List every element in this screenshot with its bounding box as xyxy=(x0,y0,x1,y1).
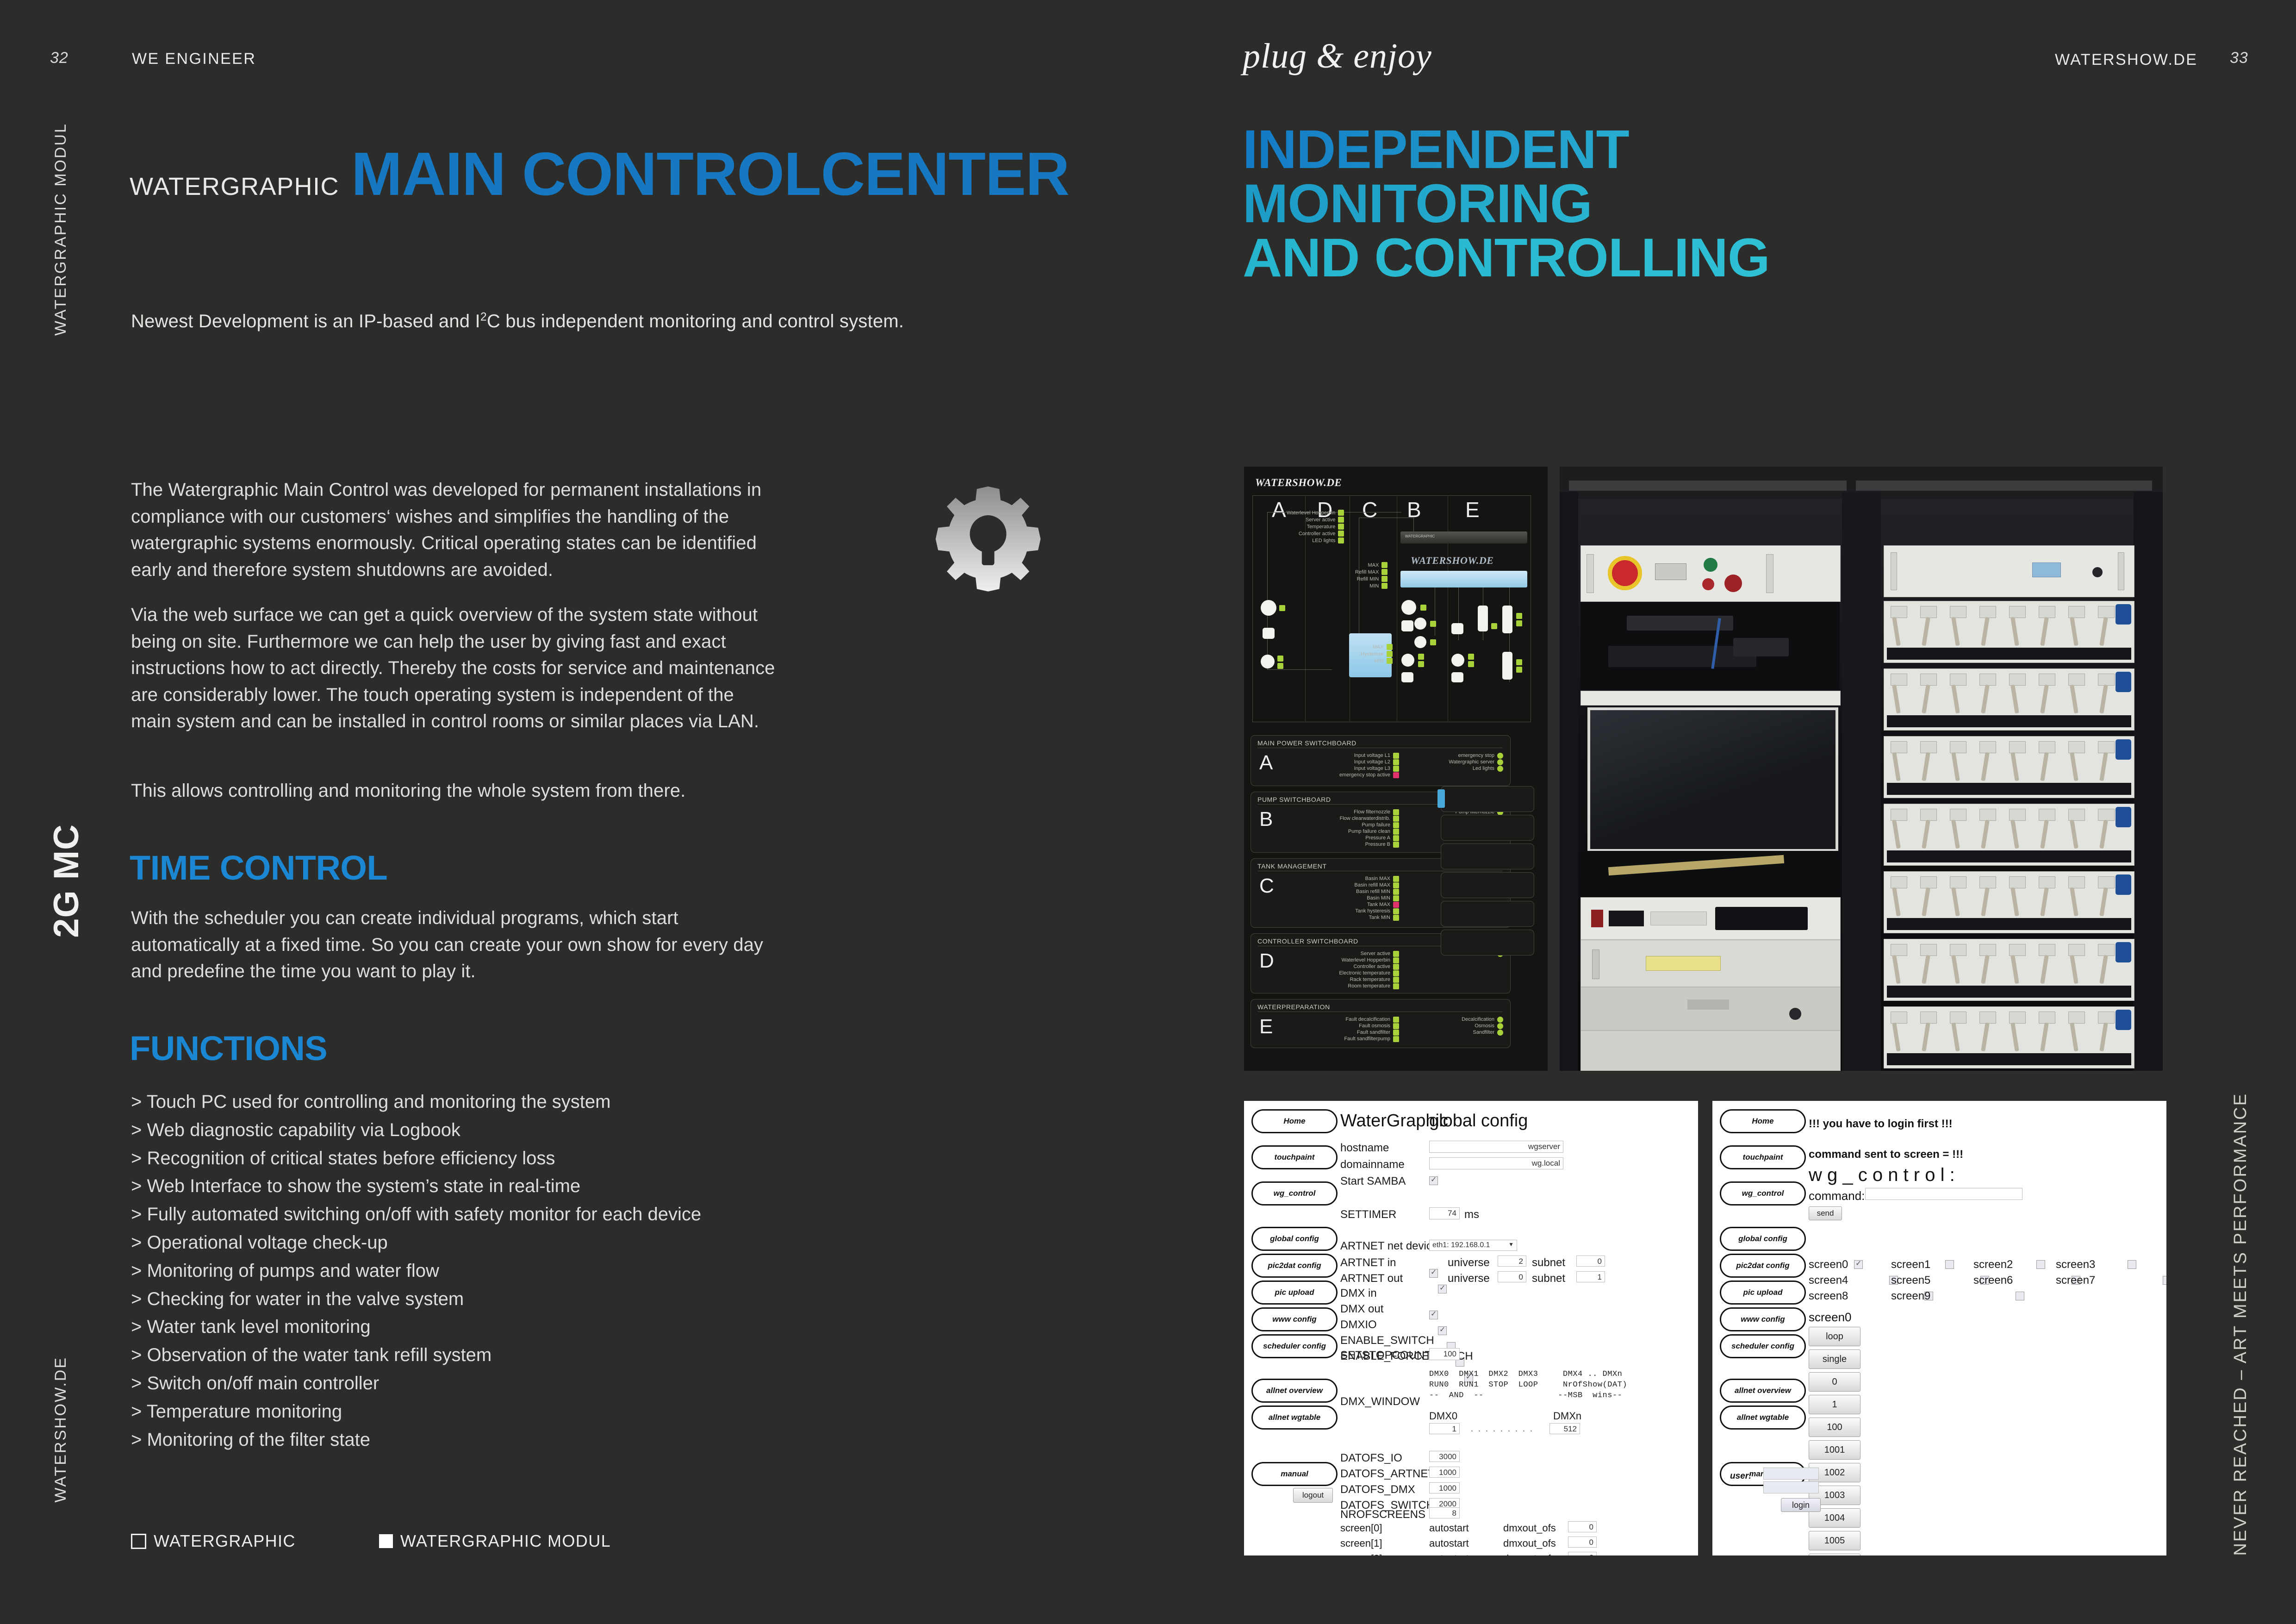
status-label: Pump failure clean xyxy=(1348,829,1390,834)
side-label-watershow-de: WATERSHOW.DE xyxy=(52,1356,70,1503)
status-led-icon xyxy=(1393,816,1399,822)
setstopcounter-input[interactable]: 100 xyxy=(1429,1348,1460,1360)
left-nav-pic2dat-config[interactable]: pic2dat config xyxy=(1251,1254,1338,1278)
outlet xyxy=(2009,674,2026,686)
page-number-right: 33 xyxy=(2230,49,2248,67)
screen-check-label-7: screen7 xyxy=(2056,1274,2095,1287)
status-label: Fault osmosis xyxy=(1359,1023,1390,1029)
status-led-icon xyxy=(1393,829,1399,835)
status-label: Electronic temperature xyxy=(1339,970,1390,976)
datofs-input[interactable]: 1000 xyxy=(1429,1482,1460,1493)
status-label: Room temperature xyxy=(1348,983,1390,989)
server-rack-photo xyxy=(1560,467,2163,1071)
cable xyxy=(2099,752,2108,781)
status-led-icon xyxy=(1393,983,1399,989)
blue-plug xyxy=(2116,604,2131,625)
status-label: Temperature xyxy=(1307,524,1336,530)
status-label: emergency stop xyxy=(1458,753,1494,758)
outlet xyxy=(1950,606,1966,618)
outlet xyxy=(2039,1012,2055,1024)
settimer-unit: ms xyxy=(1464,1208,1479,1221)
status-led-icon xyxy=(1393,895,1399,901)
cable xyxy=(1892,1023,1901,1052)
diagram-column-C: C xyxy=(1362,497,1377,522)
artnet-device-select[interactable]: eth1: 192.168.0.1 ▼ xyxy=(1429,1240,1517,1251)
page-number-left: 32 xyxy=(50,49,68,67)
card-letter: B xyxy=(1259,808,1273,831)
function-list-item: > Fully automated switching on/off with … xyxy=(131,1200,825,1229)
status-led-icon xyxy=(1393,1017,1399,1023)
autostart-label: autostart xyxy=(1429,1553,1469,1555)
hostname-input[interactable]: wgserver xyxy=(1429,1141,1563,1153)
card-status-row: Input voltage L1 xyxy=(1283,752,1399,759)
card-status-row: Decalcification xyxy=(1404,1016,1503,1023)
outlet xyxy=(1979,944,1996,956)
outlet xyxy=(2068,741,2085,753)
action-button-single[interactable]: single xyxy=(1809,1349,1860,1369)
screen-check-label-5: screen5 xyxy=(1891,1274,1930,1287)
dimmer-module xyxy=(1884,871,2134,933)
status-label: Basin refill MAX xyxy=(1354,882,1390,888)
card-letter: E xyxy=(1259,1015,1273,1038)
outlet xyxy=(1920,944,1937,956)
diagram-side-card xyxy=(1441,901,1534,927)
cable xyxy=(2040,820,2049,849)
functions-list: > Touch PC used for controlling and moni… xyxy=(131,1088,825,1454)
check-label-dmxio: DMXIO xyxy=(1340,1318,1377,1331)
status-label: Rack temperature xyxy=(1350,977,1390,982)
card-status-row: Input voltage L3 xyxy=(1283,765,1399,772)
status-c-row: MIN xyxy=(1355,582,1388,589)
card-status-row: Fault sandfilter xyxy=(1283,1029,1399,1036)
artnet-enable-checkbox[interactable] xyxy=(1429,1269,1438,1278)
outlet xyxy=(2098,1012,2115,1024)
status-label: Pressure B xyxy=(1365,842,1390,847)
body-paragraph-1: The Watergraphic Main Control was develo… xyxy=(131,477,774,583)
card-title: PUMP SWITCHBOARD xyxy=(1257,796,1331,803)
screen-checkbox-9[interactable] xyxy=(2016,1292,2024,1300)
page-title: MAIN CONTROLCENTER xyxy=(351,139,1069,209)
function-list-item: > Touch PC used for controlling and moni… xyxy=(131,1088,825,1116)
cable xyxy=(1922,617,1930,646)
logout-button[interactable]: logout xyxy=(1293,1488,1333,1503)
right-nav-touchpaint[interactable]: touchpaint xyxy=(1720,1145,1806,1169)
right-nav-global-config[interactable]: global config xyxy=(1720,1227,1806,1251)
status-label: Refill MIN xyxy=(1357,576,1379,582)
datofs-label: DATOFS_DMX xyxy=(1340,1483,1415,1496)
web-left-title-page: global config xyxy=(1429,1111,1528,1131)
side-label-never-reached: NEVER REACHED – ART MEETS PERFORMANCE xyxy=(2231,1093,2251,1556)
outlet xyxy=(1920,1012,1937,1024)
outlet xyxy=(1979,809,1996,821)
card-status-row: Input voltage L2 xyxy=(1283,759,1399,765)
cable xyxy=(2040,887,2049,917)
outlet xyxy=(1891,606,1907,618)
status-label: Osmosis xyxy=(1475,1023,1494,1029)
card-status-row: Flow clearwaterdistrib. xyxy=(1283,815,1399,822)
outlet xyxy=(1891,944,1907,956)
blue-plug xyxy=(2116,739,2131,760)
card-status-row: Basin refill MIN xyxy=(1283,888,1399,895)
left-nav-touchpaint[interactable]: touchpaint xyxy=(1251,1145,1338,1169)
outlet xyxy=(2098,674,2115,686)
cable xyxy=(1892,617,1901,646)
dmxout-label: dmxout_ofs xyxy=(1503,1537,1556,1549)
cable xyxy=(1981,617,1990,646)
outlet xyxy=(2098,741,2115,753)
dmx-col-n: DMXn xyxy=(1553,1410,1581,1422)
outlet xyxy=(1979,741,1996,753)
status-label: MAX xyxy=(1373,644,1384,650)
dmx-ellipsis: . . . . . . . . . xyxy=(1471,1424,1534,1434)
function-list-item: > Observation of the water tank refill s… xyxy=(131,1341,825,1369)
card-status-row: Tank MAX xyxy=(1283,901,1399,908)
status-label: LED lights xyxy=(1312,538,1335,543)
right-nav-allnet-wgtable[interactable]: allnet wgtable xyxy=(1720,1405,1806,1430)
chevron-down-icon: ▼ xyxy=(1508,1241,1514,1248)
right-nav-home[interactable]: Home xyxy=(1720,1109,1806,1133)
status-label: Refill MAX xyxy=(1355,569,1379,575)
status-led-icon xyxy=(1393,809,1399,815)
screen-check-label-6: screen6 xyxy=(1973,1274,2013,1287)
blue-plug xyxy=(2116,942,2131,962)
start-samba-checkbox[interactable] xyxy=(1429,1176,1438,1185)
status-label: Watergraphic server xyxy=(1449,759,1494,765)
action-button-1005[interactable]: 1005 xyxy=(1809,1531,1860,1550)
screen-check-label-0: screen0 xyxy=(1809,1258,1848,1271)
left-nav-pic-upload[interactable]: pic upload xyxy=(1251,1280,1338,1305)
diagram-side-card xyxy=(1441,815,1534,841)
settimer-input[interactable]: 74 xyxy=(1429,1207,1460,1219)
right-nav-wg-control[interactable]: wg_control xyxy=(1720,1181,1806,1206)
cable xyxy=(2010,685,2019,714)
universe-input[interactable]: 0 xyxy=(1498,1271,1526,1282)
status-led-icon xyxy=(1393,1023,1399,1029)
status-label: Sandfilter xyxy=(1473,1030,1494,1035)
function-list-item: > Temperature monitoring xyxy=(131,1398,825,1426)
right-nav-www-config[interactable]: www config xyxy=(1720,1307,1806,1331)
nrofscreens-input[interactable]: 8 xyxy=(1429,1507,1460,1518)
status-d-row: Server active xyxy=(1287,516,1344,523)
card-status-row: Rack temperature xyxy=(1283,976,1399,983)
function-list-item: > Water tank level monitoring xyxy=(131,1313,825,1341)
cable xyxy=(2070,752,2078,781)
status-label: Input voltage L3 xyxy=(1354,766,1390,771)
screen-checkbox-7[interactable] xyxy=(2163,1276,2166,1285)
status-led-icon xyxy=(1393,889,1399,895)
cable xyxy=(1951,617,1960,646)
left-nav-allnet-wgtable[interactable]: allnet wgtable xyxy=(1251,1405,1338,1430)
status-label: Waterlevel Hopperbin xyxy=(1342,957,1390,963)
card-status-row: Pump failure xyxy=(1283,822,1399,828)
action-button-loop[interactable]: loop xyxy=(1809,1327,1860,1346)
outlet xyxy=(2068,606,2085,618)
checkbox-dmx-out[interactable] xyxy=(1438,1326,1447,1335)
cable xyxy=(2040,617,2049,646)
login-button[interactable]: login xyxy=(1781,1498,1821,1512)
command-input[interactable] xyxy=(1865,1188,2022,1200)
user-input[interactable] xyxy=(1763,1468,1819,1480)
dimmer-module xyxy=(1884,939,2134,1001)
screen-row-name: screen[2] xyxy=(1340,1553,1382,1555)
card-status-row: emergency stop active xyxy=(1283,772,1399,778)
card-status-row: Server active xyxy=(1283,950,1399,957)
status-label: Tank MIN xyxy=(1369,915,1390,920)
action-button-100[interactable]: 100 xyxy=(1809,1418,1860,1437)
field-label-artnet-device: ARTNET net device xyxy=(1340,1240,1438,1253)
check-label-dmx-out: DMX out xyxy=(1340,1303,1383,1316)
legend: WATERGRAPHICWATERGRAPHIC MODUL xyxy=(131,1531,611,1551)
cable xyxy=(1892,955,1901,984)
subnet-input[interactable]: 0 xyxy=(1576,1255,1605,1267)
status-led-icon xyxy=(1393,964,1399,970)
card-status-row: Basin refill MAX xyxy=(1283,882,1399,888)
screen-checkbox-2[interactable] xyxy=(2036,1260,2045,1269)
subnet-input[interactable]: 1 xyxy=(1576,1271,1605,1282)
status-led-icon xyxy=(1338,517,1344,523)
status-led-icon xyxy=(1393,876,1399,882)
right-nav-pic-upload[interactable]: pic upload xyxy=(1720,1280,1806,1305)
side-label-watergraphic-modul: WATERGRAPHIC MODUL xyxy=(52,123,70,336)
function-list-item: > Web diagnostic capability via Logbook xyxy=(131,1116,825,1144)
cable xyxy=(2010,752,2019,781)
outlet xyxy=(1891,876,1907,888)
status-label: MIN xyxy=(1374,658,1383,664)
outlet xyxy=(1950,944,1966,956)
tank-row: MAX xyxy=(1361,643,1393,650)
cable xyxy=(1892,887,1901,917)
cable xyxy=(1922,1023,1930,1052)
cable xyxy=(1922,887,1930,917)
body-paragraph-2: Via the web surface we can get a quick o… xyxy=(131,602,779,735)
header-label-right: WATERSHOW.DE xyxy=(2055,51,2197,69)
status-led-icon xyxy=(1338,524,1344,530)
dmx-window-label: DMX_WINDOW xyxy=(1340,1395,1420,1408)
legend-label: WATERGRAPHIC MODUL xyxy=(400,1531,611,1551)
status-label: Basin MAX xyxy=(1365,876,1390,881)
status-led-icon xyxy=(1497,1030,1503,1036)
datofs-input[interactable]: 1000 xyxy=(1429,1467,1460,1478)
cable xyxy=(2070,685,2078,714)
right-title-line-2: AND CONTROLLING xyxy=(1243,231,1770,285)
diagram-side-card xyxy=(1441,843,1534,869)
screen-row-name: screen[0] xyxy=(1340,1522,1382,1534)
eyebrow-watergraphic: WATERGRAPHIC xyxy=(130,172,339,201)
outlet xyxy=(2009,606,2026,618)
subnet-label: subnet xyxy=(1532,1272,1565,1285)
cable xyxy=(2010,955,2019,984)
cable xyxy=(1892,685,1901,714)
checkbox-filled-icon xyxy=(379,1534,393,1548)
status-d-row: LED lights xyxy=(1287,537,1344,544)
status-led-icon xyxy=(1381,576,1388,582)
left-nav-allnet-overview[interactable]: allnet overview xyxy=(1251,1379,1338,1403)
outlet xyxy=(1979,674,1996,686)
card-status-row: Pressure A xyxy=(1283,835,1399,841)
outlet xyxy=(2009,876,2026,888)
right-nav-scheduler-config[interactable]: scheduler config xyxy=(1720,1334,1806,1358)
dimmer-module xyxy=(1884,804,2134,866)
cable xyxy=(2070,617,2078,646)
action-button-0[interactable]: 0 xyxy=(1809,1372,1860,1392)
cable xyxy=(2040,955,2049,984)
outlet xyxy=(2039,674,2055,686)
function-list-item: > Operational voltage check-up xyxy=(131,1229,825,1257)
cable xyxy=(2099,887,2108,917)
screen-row-name: screen[1] xyxy=(1340,1537,1382,1549)
left-nav-manual[interactable]: manual xyxy=(1251,1462,1338,1486)
status-led-icon xyxy=(1393,822,1399,828)
diagram-logo: WATERSHOW.DE xyxy=(1255,477,1342,489)
card-letter: A xyxy=(1259,751,1273,775)
left-nav-wg-control[interactable]: wg_control xyxy=(1251,1181,1338,1206)
dimmer-module xyxy=(1884,601,2134,663)
heading-functions: FUNCTIONS xyxy=(130,1029,327,1068)
status-label: Controller active xyxy=(1299,531,1335,537)
gear-icon xyxy=(926,481,1051,606)
user-label: user: xyxy=(1730,1471,1751,1481)
card-status-row: Controller active xyxy=(1283,963,1399,970)
dmx-val-n[interactable]: 512 xyxy=(1549,1423,1580,1434)
outlet xyxy=(2098,606,2115,618)
diagram-status-group-d: Waterlevel HopperbinServer activeTempera… xyxy=(1287,509,1344,544)
outlet xyxy=(1920,741,1937,753)
cable xyxy=(1892,820,1901,849)
autostart-label: autostart xyxy=(1429,1537,1469,1549)
action-button-1[interactable]: 1 xyxy=(1809,1395,1860,1414)
outlet xyxy=(2009,1012,2026,1024)
left-nav-www-config[interactable]: www config xyxy=(1251,1307,1338,1331)
card-status-row: Pressure B xyxy=(1283,841,1399,848)
status-c-row: Refill MIN xyxy=(1355,575,1388,582)
status-led-icon xyxy=(1393,977,1399,983)
dmx-val-0[interactable]: 1 xyxy=(1429,1423,1460,1434)
web-ui-global-config: Hometouchpaintwg_controlglobal configpic… xyxy=(1244,1101,1698,1555)
system-diagram-screenshot: WATERSHOW.DE ADCBE WATERGRAPHIC WATERSHO… xyxy=(1244,467,1548,1071)
card-letter: C xyxy=(1259,874,1274,898)
status-label: Basin refill MIN xyxy=(1356,889,1390,894)
lede-paragraph: Newest Development is an IP-based and I2… xyxy=(131,311,941,332)
left-nav-scheduler-config[interactable]: scheduler config xyxy=(1251,1334,1338,1358)
right-nav-allnet-overview[interactable]: allnet overview xyxy=(1720,1379,1806,1403)
screen-checkbox-1[interactable] xyxy=(1945,1260,1954,1269)
cable xyxy=(2099,617,2108,646)
diagram-side-card xyxy=(1441,872,1534,898)
right-nav-pic2dat-config[interactable]: pic2dat config xyxy=(1720,1254,1806,1278)
cable xyxy=(2010,617,2019,646)
diagram-inner-label: WATERGRAPHIC xyxy=(1405,534,1435,538)
web-ui-wg-control: Hometouchpaintwg_controlglobal configpic… xyxy=(1712,1101,2166,1555)
status-led-icon xyxy=(1381,583,1388,589)
universe-label: universe xyxy=(1448,1256,1490,1269)
outlet xyxy=(2009,809,2026,821)
cable xyxy=(1951,1023,1960,1052)
status-label: Fault sandfilter xyxy=(1357,1030,1390,1035)
dimmer-module xyxy=(1884,1006,2134,1068)
left-nav-home[interactable]: Home xyxy=(1251,1109,1338,1133)
status-label: Basin MIN xyxy=(1367,895,1390,901)
cable xyxy=(2070,887,2078,917)
diagram-side-card xyxy=(1441,930,1534,956)
status-led-icon xyxy=(1393,842,1399,848)
outlet xyxy=(1891,1012,1907,1024)
dmxout-input[interactable]: 0 xyxy=(1568,1521,1597,1532)
diagram-column-B: B xyxy=(1407,497,1421,522)
status-led-icon xyxy=(1393,1030,1399,1036)
field-label-hostname: hostname xyxy=(1340,1142,1389,1155)
universe-input[interactable]: 2 xyxy=(1498,1255,1526,1267)
card-status-row: emergency stop xyxy=(1404,752,1503,759)
card-title: CONTROLLER SWITCHBOARD xyxy=(1257,937,1358,945)
status-label: Fault sandfilterpump xyxy=(1344,1036,1390,1042)
outlet xyxy=(2009,944,2026,956)
diagram-column-E: E xyxy=(1465,497,1480,522)
dimmer-module xyxy=(1884,736,2134,798)
right-title-line-0: INDEPENDENT xyxy=(1243,123,1770,177)
send-button[interactable]: send xyxy=(1809,1206,1842,1220)
action-button-101[interactable]: 101 xyxy=(1809,1554,1860,1555)
status-led-icon xyxy=(1338,531,1344,537)
datofs-input[interactable]: 3000 xyxy=(1429,1451,1460,1462)
dmx-mono-legend: DMX0 DMX1 DMX2 DMX3 DMX4 .. DMXn RUN0 RU… xyxy=(1429,1369,1627,1401)
card-status-row: Flow filternozzle xyxy=(1283,809,1399,815)
status-label: MAX xyxy=(1368,562,1379,568)
outlet xyxy=(2039,606,2055,618)
cable xyxy=(2040,752,2049,781)
field-label-settimer: SETTIMER xyxy=(1340,1208,1396,1221)
status-led-icon xyxy=(1338,537,1344,543)
outlet xyxy=(1950,1012,1966,1024)
status-label: Server active xyxy=(1361,951,1390,956)
outlet xyxy=(2009,741,2026,753)
outlet xyxy=(1950,809,1966,821)
cable xyxy=(2010,820,2019,849)
dmxout-input[interactable]: 6 xyxy=(1568,1552,1597,1555)
action-button-1001[interactable]: 1001 xyxy=(1809,1440,1860,1460)
card-title: TANK MANAGEMENT xyxy=(1257,862,1327,870)
card-status-row: Tank hysteresis xyxy=(1283,908,1399,914)
field-label-start-samba: Start SAMBA xyxy=(1340,1175,1406,1188)
cable xyxy=(2040,685,2049,714)
outlet xyxy=(2098,944,2115,956)
outlet xyxy=(2068,944,2085,956)
right-page-title: INDEPENDENTMONITORINGAND CONTROLLING xyxy=(1243,123,1770,285)
domainname-input[interactable]: wg.local xyxy=(1429,1157,1563,1169)
outlet xyxy=(2039,809,2055,821)
left-nav-global-config[interactable]: global config xyxy=(1251,1227,1338,1251)
check-label-dmx-in: DMX in xyxy=(1340,1287,1377,1300)
cable xyxy=(2099,820,2108,849)
cable xyxy=(1922,685,1930,714)
status-led-icon xyxy=(1381,562,1388,568)
password-input[interactable] xyxy=(1763,1481,1819,1493)
screen-checkbox-0[interactable] xyxy=(1854,1260,1863,1269)
card-status-row: Room temperature xyxy=(1283,983,1399,989)
cable xyxy=(2070,1023,2078,1052)
function-list-item: > Switch on/off main controller xyxy=(131,1369,825,1398)
outlet xyxy=(1950,741,1966,753)
side-accent xyxy=(1437,789,1445,808)
function-list-item: > Monitoring of the filter state xyxy=(131,1426,825,1454)
dmxout-input[interactable]: 0 xyxy=(1568,1537,1597,1548)
screen-checkbox-3[interactable] xyxy=(2128,1260,2136,1269)
checkbox-dmx-in[interactable] xyxy=(1429,1311,1438,1319)
cable xyxy=(1922,955,1930,984)
artnet-enable-checkbox[interactable] xyxy=(1438,1285,1447,1293)
status-label: Led lights xyxy=(1473,766,1494,771)
blue-plug xyxy=(2116,672,2131,692)
diagram-inner-logo: WATERSHOW.DE xyxy=(1411,555,1493,567)
